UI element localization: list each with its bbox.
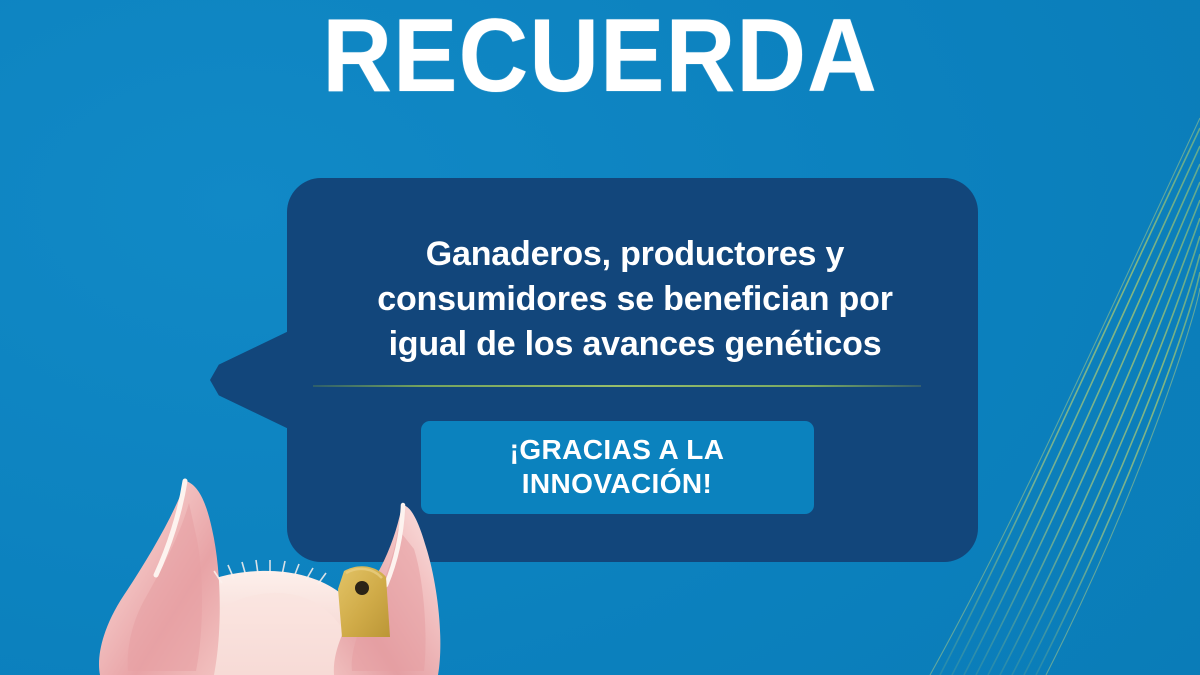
poster-canvas: RECUERDA Ganaderos, productores y consum… [0, 0, 1200, 675]
gracias-innovacion-button[interactable]: ¡GRACIAS A LA INNOVACIÓN! [421, 421, 814, 514]
poster-headline: RECUERDA [42, 4, 1158, 108]
speech-bubble-content: Ganaderos, productores y consumidores se… [305, 178, 965, 562]
speech-bubble: Ganaderos, productores y consumidores se… [210, 178, 978, 562]
bubble-message-text: Ganaderos, productores y consumidores se… [365, 232, 905, 367]
bubble-divider [313, 385, 921, 387]
cta-container: ¡GRACIAS A LA INNOVACIÓN! [421, 421, 814, 514]
